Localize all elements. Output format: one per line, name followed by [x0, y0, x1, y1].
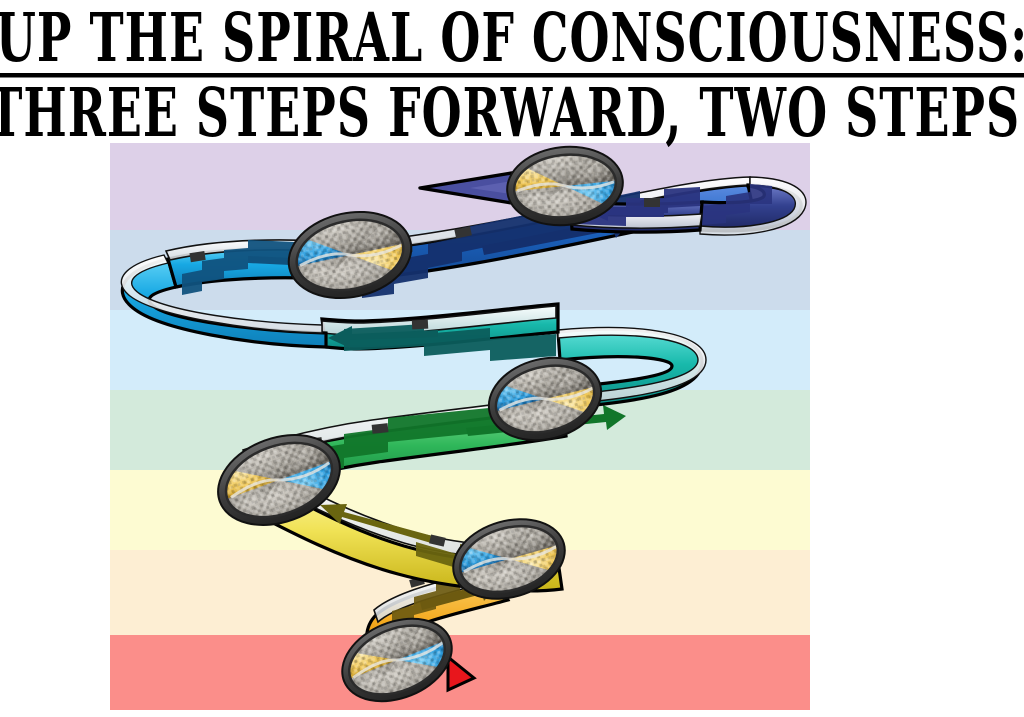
- tick-teal: [412, 320, 428, 330]
- page-title: UP THE SPIRAL OF CONSCIOUSNESS: THREE ST…: [0, 0, 1024, 140]
- start-flag: [448, 657, 474, 690]
- segment-teal-back: [322, 304, 558, 361]
- tick-green-1: [372, 423, 389, 434]
- ribbon-track: [121, 170, 806, 690]
- spiral-infographic: UP THE SPIRAL OF CONSCIOUSNESS: THREE ST…: [0, 0, 1024, 717]
- title-line-2: THREE STEPS FORWARD, TWO STEPS BACK: [0, 79, 1024, 147]
- tick-indigo: [644, 198, 660, 207]
- title-line-1: UP THE SPIRAL OF CONSCIOUSNESS:: [0, 4, 1024, 78]
- node-5[interactable]: [280, 199, 422, 313]
